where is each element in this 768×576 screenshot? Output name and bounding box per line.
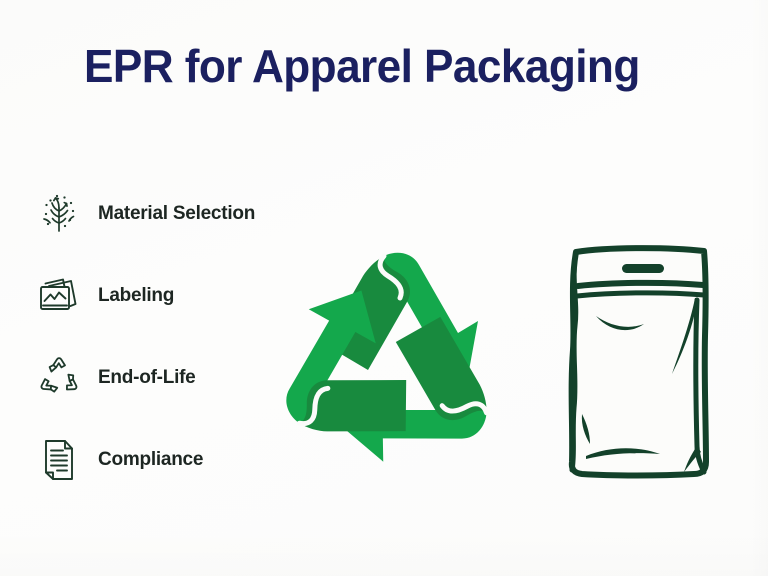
document-lines-icon xyxy=(30,432,88,488)
feature-label: Material Selection xyxy=(98,203,255,225)
slide-canvas: EPR for Apparel Packaging xyxy=(0,0,768,576)
feature-item-material-selection[interactable]: Material Selection xyxy=(30,186,330,242)
feature-label: End-of-Life xyxy=(98,367,196,389)
feature-label: Compliance xyxy=(98,449,203,471)
page-title: EPR for Apparel Packaging xyxy=(84,38,640,94)
feature-label: Labeling xyxy=(98,285,174,307)
packaging-pouch-illustration xyxy=(556,240,728,488)
tree-sparkle-icon xyxy=(30,186,88,242)
recycle-outline-icon xyxy=(30,350,88,406)
label-card-chart-icon xyxy=(30,268,88,324)
recycle-mobius-symbol xyxy=(258,236,522,488)
